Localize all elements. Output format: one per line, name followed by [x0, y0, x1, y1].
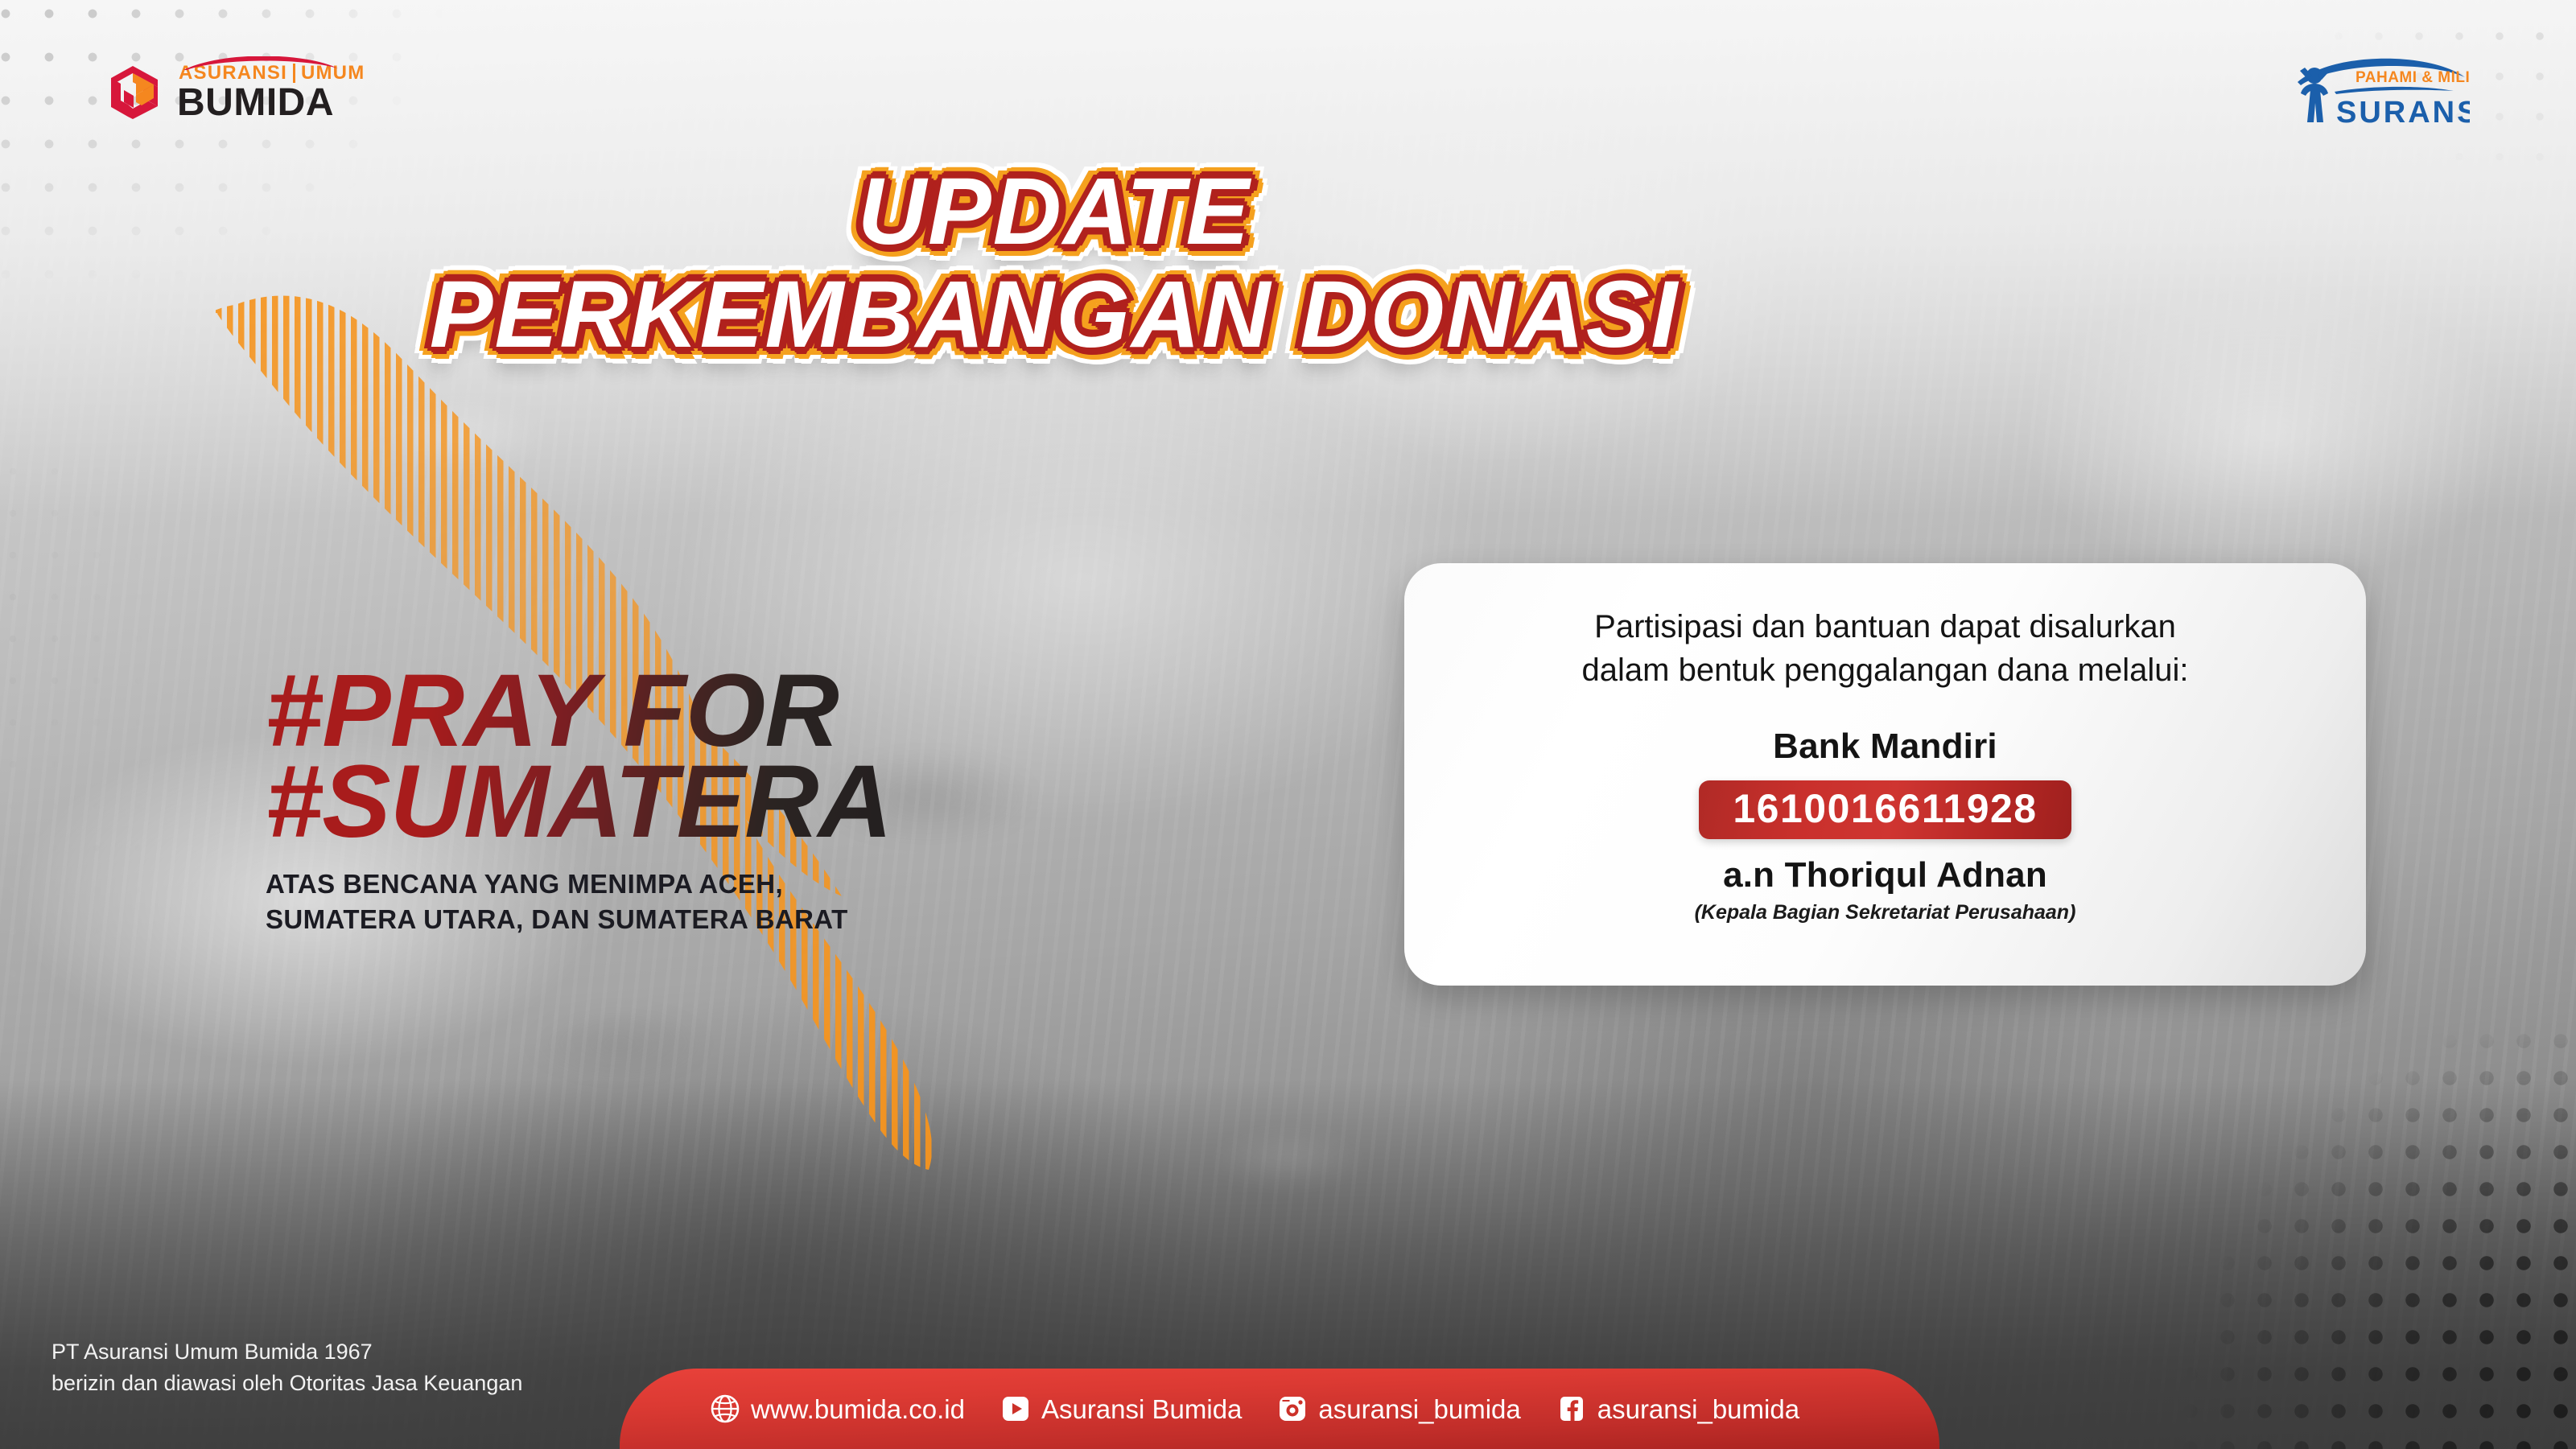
account-holder-name: a.n Thoriqul Adnan	[1723, 855, 2047, 895]
pahami-miliki-asuransi-logo: PAHAMI & MILIKI SURANSI	[2288, 53, 2470, 127]
donation-card: Partisipasi dan bantuan dapat disalurkan…	[1404, 563, 2366, 986]
hashtag-subtitle-line-2: SUMATERA UTARA, DAN SUMATERA BARAT	[266, 902, 892, 937]
donation-intro: Partisipasi dan bantuan dapat disalurkan…	[1582, 605, 2189, 693]
svg-text:PAHAMI & MILIKI: PAHAMI & MILIKI	[2355, 69, 2470, 86]
bumida-logo-name: BUMIDA	[177, 84, 365, 121]
footer-label-facebook: asuransi_bumida	[1597, 1396, 1799, 1422]
account-number-badge[interactable]: 1610016611928	[1699, 780, 2071, 839]
legal-disclaimer: PT Asuransi Umum Bumida 1967 berizin dan…	[52, 1336, 522, 1399]
legal-line-1: PT Asuransi Umum Bumida 1967	[52, 1336, 522, 1368]
halftone-dots-top-right	[2158, 0, 2576, 314]
footer-label-youtube: Asuransi Bumida	[1041, 1396, 1242, 1422]
bumida-logo: ASURANSI UMUM BUMIDA	[103, 63, 365, 122]
bumida-logo-mark-icon	[103, 63, 163, 122]
hashtag-line-2: #SUMATERA	[266, 757, 892, 848]
bumida-logo-wordmark: ASURANSI UMUM BUMIDA	[177, 64, 365, 121]
footer-label-instagram: asuransi_bumida	[1318, 1396, 1520, 1422]
youtube-icon	[1000, 1393, 1031, 1424]
headline-line-2: PERKEMBANGAN DONASI	[0, 269, 2108, 360]
hashtag-block: #PRAY FOR #SUMATERA ATAS BENCANA YANG ME…	[266, 666, 892, 938]
hashtag-line-1: #PRAY FOR	[266, 666, 892, 757]
svg-text:SURANSI: SURANSI	[2336, 96, 2470, 127]
legal-line-2: berizin dan diawasi oleh Otoritas Jasa K…	[52, 1368, 522, 1399]
poster-canvas: ASURANSI UMUM BUMIDA PAHAMI & MILIKI SUR…	[0, 0, 2576, 1449]
globe-icon	[710, 1393, 740, 1424]
footer-social-bar: www.bumida.co.id Asuransi Bumida asurans…	[620, 1369, 1939, 1449]
bank-name: Bank Mandiri	[1773, 727, 1997, 767]
footer-label-website: www.bumida.co.id	[751, 1396, 965, 1422]
donation-intro-line-2: dalam bentuk penggalangan dana melalui:	[1582, 648, 2189, 692]
footer-item-instagram[interactable]: asuransi_bumida	[1277, 1393, 1520, 1424]
bumida-logo-arc-icon	[182, 56, 340, 71]
hashtag-subtitle: ATAS BENCANA YANG MENIMPA ACEH, SUMATERA…	[266, 867, 892, 937]
footer-item-website[interactable]: www.bumida.co.id	[710, 1393, 965, 1424]
facebook-icon	[1556, 1393, 1587, 1424]
donation-intro-line-1: Partisipasi dan bantuan dapat disalurkan	[1582, 605, 2189, 648]
headline: UPDATE PERKEMBANGAN DONASI	[0, 166, 2108, 361]
hashtag-subtitle-line-1: ATAS BENCANA YANG MENIMPA ACEH,	[266, 867, 892, 902]
footer-item-facebook[interactable]: asuransi_bumida	[1556, 1393, 1799, 1424]
account-holder-role: (Kepala Bagian Sekretariat Perusahaan)	[1695, 901, 2076, 924]
instagram-icon	[1277, 1393, 1308, 1424]
footer-item-youtube[interactable]: Asuransi Bumida	[1000, 1393, 1242, 1424]
headline-line-1: UPDATE	[0, 166, 2108, 257]
